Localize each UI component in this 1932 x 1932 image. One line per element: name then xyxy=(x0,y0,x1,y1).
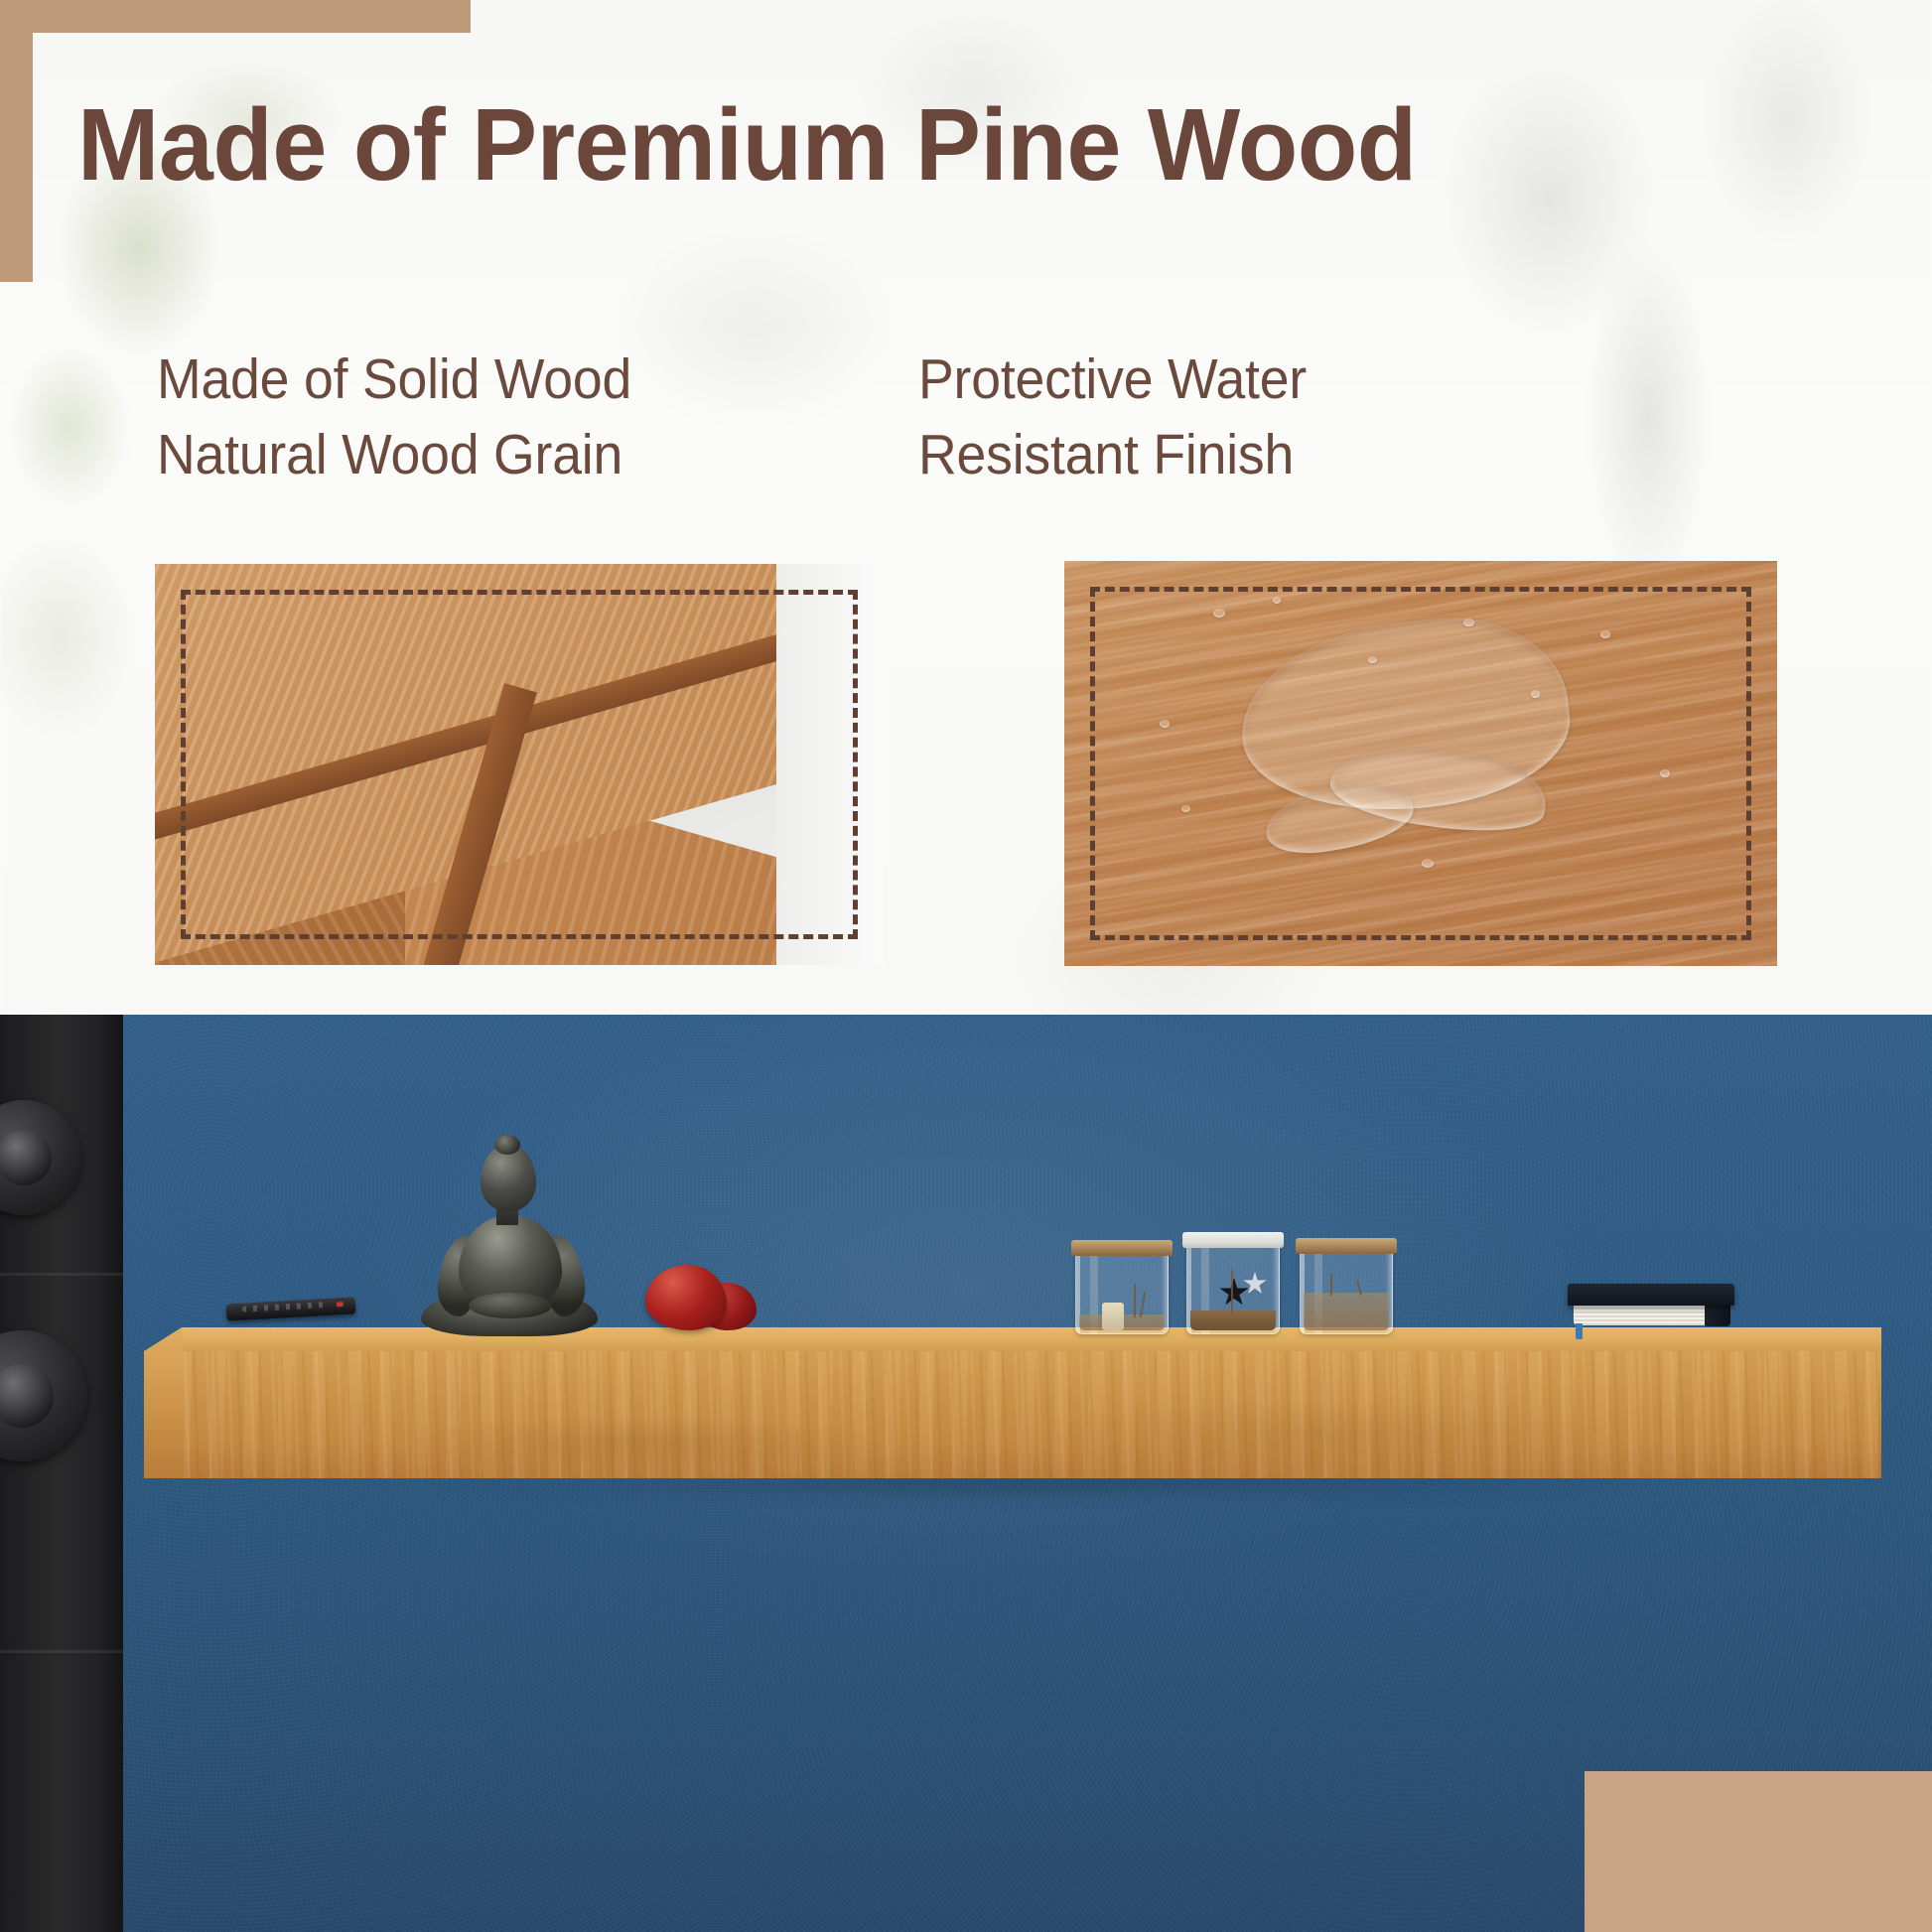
star-icon xyxy=(1243,1272,1267,1296)
glass-jar-sand xyxy=(1300,1249,1393,1334)
glass-jar-stars xyxy=(1186,1243,1280,1334)
floating-wood-shelf xyxy=(144,1327,1881,1506)
speaker-cabinet xyxy=(0,1015,123,1932)
shelf-end-cap xyxy=(144,1327,184,1478)
corner-accent-bottom-right xyxy=(1585,1771,1932,1932)
speaker-driver-icon xyxy=(0,1330,87,1461)
glass-jar-group xyxy=(1075,1231,1393,1334)
hardcover-book xyxy=(1568,1284,1734,1332)
feature-heading-line1: Made of Solid Wood xyxy=(157,343,866,418)
feature-heading-line2: Resistant Finish xyxy=(918,418,1572,493)
buddha-statue xyxy=(415,1144,604,1334)
feature-heading-solid-wood: Made of Solid Wood Natural Wood Grain xyxy=(157,343,866,493)
shelf-front-face xyxy=(144,1351,1881,1478)
feature-heading-line2: Natural Wood Grain xyxy=(157,418,866,493)
feature-heading-water-resistant: Protective Water Resistant Finish xyxy=(918,343,1572,493)
corner-accent-top xyxy=(0,0,471,33)
page-title: Made of Premium Pine Wood xyxy=(77,91,1793,199)
speaker-driver-icon xyxy=(0,1100,81,1215)
corner-accent-left xyxy=(0,0,33,282)
glass-jar-candle xyxy=(1075,1251,1169,1334)
red-ornament xyxy=(645,1265,757,1332)
star-icon xyxy=(1219,1278,1249,1308)
feature-heading-line1: Protective Water xyxy=(918,343,1572,418)
feature-photo-solid-wood xyxy=(155,564,884,965)
bookmark-ribbon xyxy=(1576,1323,1583,1339)
feature-photo-water-resistant xyxy=(1064,561,1777,966)
infographic-canvas: Made of Premium Pine Wood Made of Solid … xyxy=(0,0,1932,1932)
